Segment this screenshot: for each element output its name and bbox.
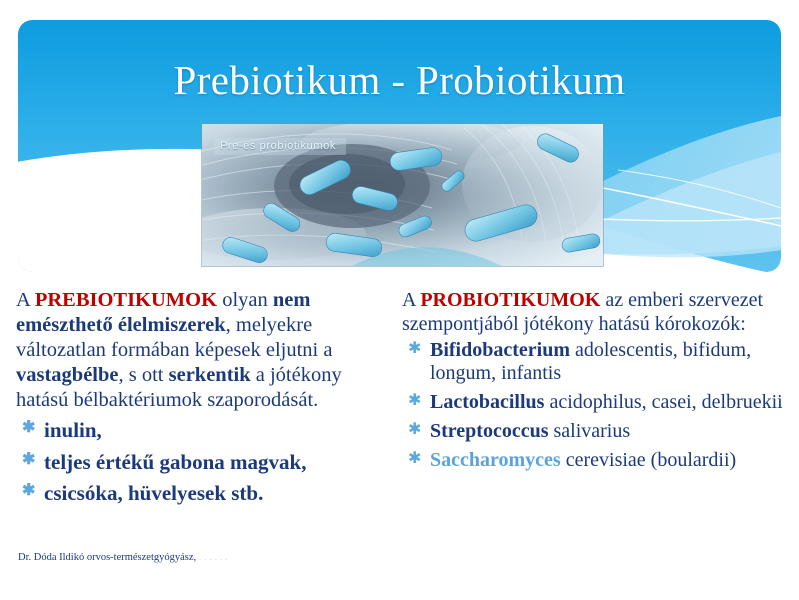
prebiotics-paragraph: A PREBIOTIKUMOK olyan nem emészthető éle… — [16, 288, 398, 413]
species-label: salivarius — [549, 420, 631, 442]
probiotics-bullet-list: ✱ Bifidobacterium adolescentis, bifidum,… — [402, 339, 792, 471]
right-content-column: A PROBIOTIKUMOK az emberi szervezet szem… — [402, 288, 792, 477]
list-item: ✱ Bifidobacterium adolescentis, bifidum,… — [402, 339, 792, 385]
probiotics-paragraph: A PROBIOTIKUMOK az emberi szervezet szem… — [402, 288, 792, 336]
list-item-label: teljes értékű gabona magvak, — [44, 450, 306, 474]
genus-label: Streptococcus — [430, 420, 549, 442]
prebiotics-bold-2: vastagbélbe — [16, 364, 119, 386]
probiotics-text-1: A — [402, 289, 420, 311]
asterisk-bullet-icon: ✱ — [22, 450, 35, 470]
bacteria-microscopy-image: Pre-és probiotikumok — [202, 124, 603, 266]
genus-label: Bifidobacterium — [430, 339, 570, 361]
prebiotics-bold-3: serkentik — [169, 364, 251, 386]
list-item: ✱ csicsóka, hüvelyesek stb. — [16, 480, 398, 508]
asterisk-bullet-icon: ✱ — [22, 481, 35, 501]
prebiotics-text-2: olyan — [217, 289, 273, 311]
asterisk-bullet-icon: ✱ — [408, 339, 421, 359]
picture-caption: Pre-és probiotikumok — [214, 138, 346, 155]
prebiotics-text-4: , s ott — [119, 364, 169, 386]
list-item: ✱ teljes értékű gabona magvak, — [16, 449, 398, 477]
presentation-slide: Prebiotikum - Probiotikum — [0, 0, 799, 600]
footer-author: Dr. Dóda Ildikó orvos-természetgyógyász, — [18, 552, 196, 563]
asterisk-bullet-icon: ✱ — [408, 391, 421, 411]
species-label: cerevisiae (boulardii) — [561, 449, 736, 471]
footer-faded-text: . . . . . . — [196, 552, 228, 563]
list-item-label: csicsóka, hüvelyesek stb. — [44, 481, 263, 505]
list-item: ✱ Saccharomyces cerevisiae (boulardii) — [402, 449, 792, 472]
list-item-label: inulin, — [44, 418, 102, 442]
slide-footer-attribution: Dr. Dóda Ildikó orvos-természetgyógyász,… — [18, 552, 228, 563]
species-label: acidophilus, casei, delbruekii — [544, 391, 782, 413]
prebiotics-text-1: A — [16, 289, 35, 311]
prebiotics-bullet-list: ✱ inulin, ✱ teljes értékű gabona magvak,… — [16, 417, 398, 508]
genus-label: Lactobacillus — [430, 391, 544, 413]
asterisk-bullet-icon: ✱ — [22, 418, 35, 438]
left-content-column: A PREBIOTIKUMOK olyan nem emészthető éle… — [16, 288, 398, 512]
list-item: ✱ Streptococcus salivarius — [402, 420, 792, 443]
asterisk-bullet-icon: ✱ — [408, 449, 421, 469]
genus-label: Saccharomyces — [430, 449, 561, 471]
probiotics-term: PROBIOTIKUMOK — [420, 289, 600, 311]
list-item: ✱ inulin, — [16, 417, 398, 445]
slide-title: Prebiotikum - Probiotikum — [0, 56, 799, 104]
prebiotics-term: PREBIOTIKUMOK — [35, 289, 217, 311]
list-item: ✱ Lactobacillus acidophilus, casei, delb… — [402, 391, 792, 414]
asterisk-bullet-icon: ✱ — [408, 420, 421, 440]
